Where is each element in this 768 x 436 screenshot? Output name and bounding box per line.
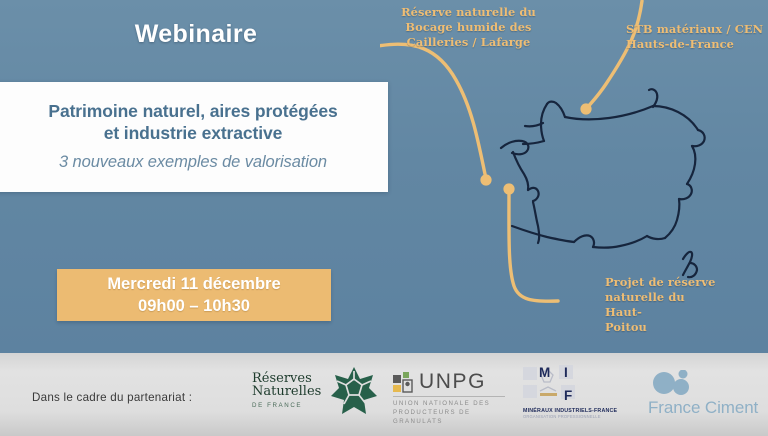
france-ciment-wordmark: France Ciment (648, 398, 758, 418)
annotation-poitou: Projet de réserve naturelle du Haut- Poi… (605, 275, 725, 336)
connector-bocage (380, 44, 486, 179)
annotation-bocage: Réserve naturelle du Bocage humide des C… (386, 5, 551, 50)
map-pin-poitou[interactable] (503, 183, 514, 194)
page-title: Webinaire (0, 20, 392, 49)
title-line-1: Patrimoine naturel, aires protégées (48, 101, 337, 121)
badge-date: Mercredi 11 décembre (107, 273, 280, 295)
title-main: Patrimoine naturel, aires protégées et i… (48, 100, 337, 145)
france-outline-icon (501, 89, 705, 277)
annotation-bocage-line-3: Cailleries / Lafarge (386, 35, 551, 50)
unpg-squares-icon (393, 372, 415, 393)
rnf-line-3: DE FRANCE (252, 402, 334, 409)
annotation-stb-line-2: Hauts-de-France (626, 37, 768, 52)
logo-mif: M I F MINÉRAUX INDUSTRIELS-FRANCE ORGANI… (523, 365, 623, 420)
unpg-subtitle: UNION NATIONALE DES PRODUCTEURS DE GRANU… (393, 399, 513, 426)
annotation-stb: STB matériaux / CEN Hauts-de-France (626, 22, 768, 52)
map-pin-bocage[interactable] (480, 174, 491, 185)
webinar-slide: Webinaire Patrimoine naturel, aires prot… (0, 0, 768, 436)
mif-letter-i: I (564, 365, 568, 380)
unpg-divider (393, 396, 505, 397)
unpg-mark-row: UNPG (393, 370, 513, 394)
logo-unpg: UNPG UNION NATIONALE DES PRODUCTEURS DE … (393, 370, 513, 416)
logo-france-ciment: France Ciment (648, 370, 766, 418)
rnf-wordmark: Réserves Naturelles DE FRANCE (252, 372, 334, 409)
mif-subtitle-line-2: ORGANISATION PROFESSIONNELLE (523, 414, 601, 419)
mif-letter-f: F (564, 388, 572, 403)
unpg-subtitle-line-2: PRODUCTEURS DE GRANULATS (393, 408, 513, 426)
title-subtitle: 3 nouveaux exemples de valorisation (59, 153, 327, 172)
map-pin-stb[interactable] (580, 103, 591, 114)
annotation-stb-line-1: STB matériaux / CEN (626, 22, 768, 37)
annotation-bocage-line-1: Réserve naturelle du (386, 5, 551, 20)
date-badge: Mercredi 11 décembre 09h00 – 10h30 (57, 269, 331, 321)
unpg-subtitle-line-1: UNION NATIONALE DES (393, 399, 513, 408)
badge-time: 09h00 – 10h30 (138, 295, 250, 317)
annotation-poitou-line-2: naturelle du Haut- (605, 290, 725, 320)
title-line-2: et industrie extractive (104, 123, 283, 143)
rnf-line-1: Réserves (252, 372, 334, 385)
annotation-poitou-line-1: Projet de réserve (605, 275, 725, 290)
annotation-poitou-line-3: Poitou (605, 320, 725, 335)
partnership-label: Dans le cadre du partenariat : (32, 391, 192, 404)
annotation-bocage-line-2: Bocage humide des (386, 20, 551, 35)
connector-stb (587, 1, 642, 108)
logo-reserves-naturelles: Réserves Naturelles DE FRANCE (252, 366, 378, 422)
rnf-star-icon (330, 366, 378, 421)
map-pins (480, 103, 591, 194)
rnf-line-2: Naturelles (252, 385, 334, 398)
title-card: Patrimoine naturel, aires protégées et i… (0, 82, 388, 192)
france-ciment-dots-icon (650, 370, 704, 398)
unpg-wordmark: UNPG (419, 370, 486, 394)
mif-letters: M I F (523, 365, 585, 407)
mif-letter-m: M (539, 365, 550, 380)
